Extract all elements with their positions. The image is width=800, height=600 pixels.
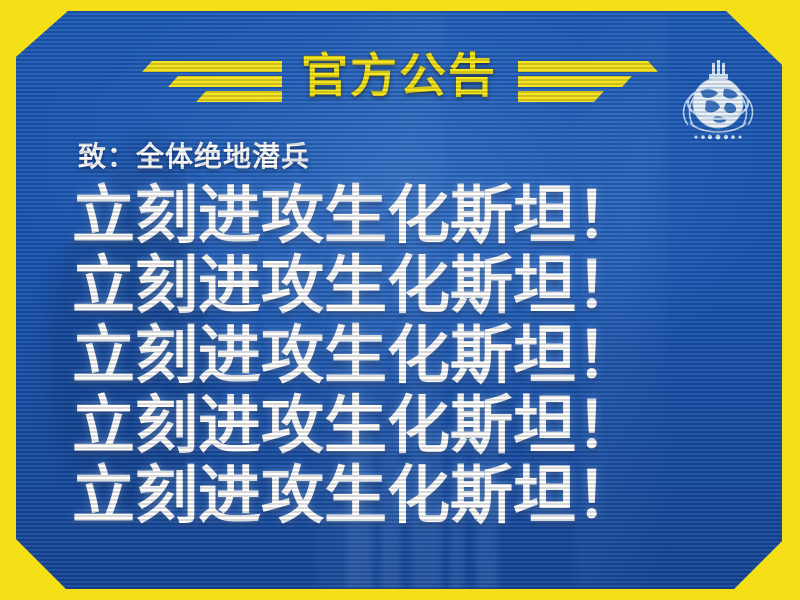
slogan-line: 立刻进攻生化斯坦！ [72,321,772,391]
slogan-list: 立刻进攻生化斯坦！ 立刻进攻生化斯坦！ 立刻进攻生化斯坦！ 立刻进攻生化斯坦！ … [72,181,772,531]
page-title: 官方公告 [16,47,782,105]
slogan-line: 立刻进攻生化斯坦！ [72,251,772,321]
slogan-line: 立刻进攻生化斯坦！ [72,461,772,531]
slogan-line: 立刻进攻生化斯坦！ [72,181,772,251]
wing-chevron-right-icon [518,59,658,107]
poster-header: 官方公告 [16,47,782,117]
slogan-line: 立刻进攻生化斯坦！ [72,391,772,461]
salutation-text: 致：全体绝地潜兵 [78,135,310,175]
super-earth-globe-emblem-icon [676,55,760,145]
announcement-poster: 官方公告 [0,0,800,600]
bottom-edge-hairline [16,589,782,591]
blue-announcement-panel: 官方公告 [16,11,782,589]
